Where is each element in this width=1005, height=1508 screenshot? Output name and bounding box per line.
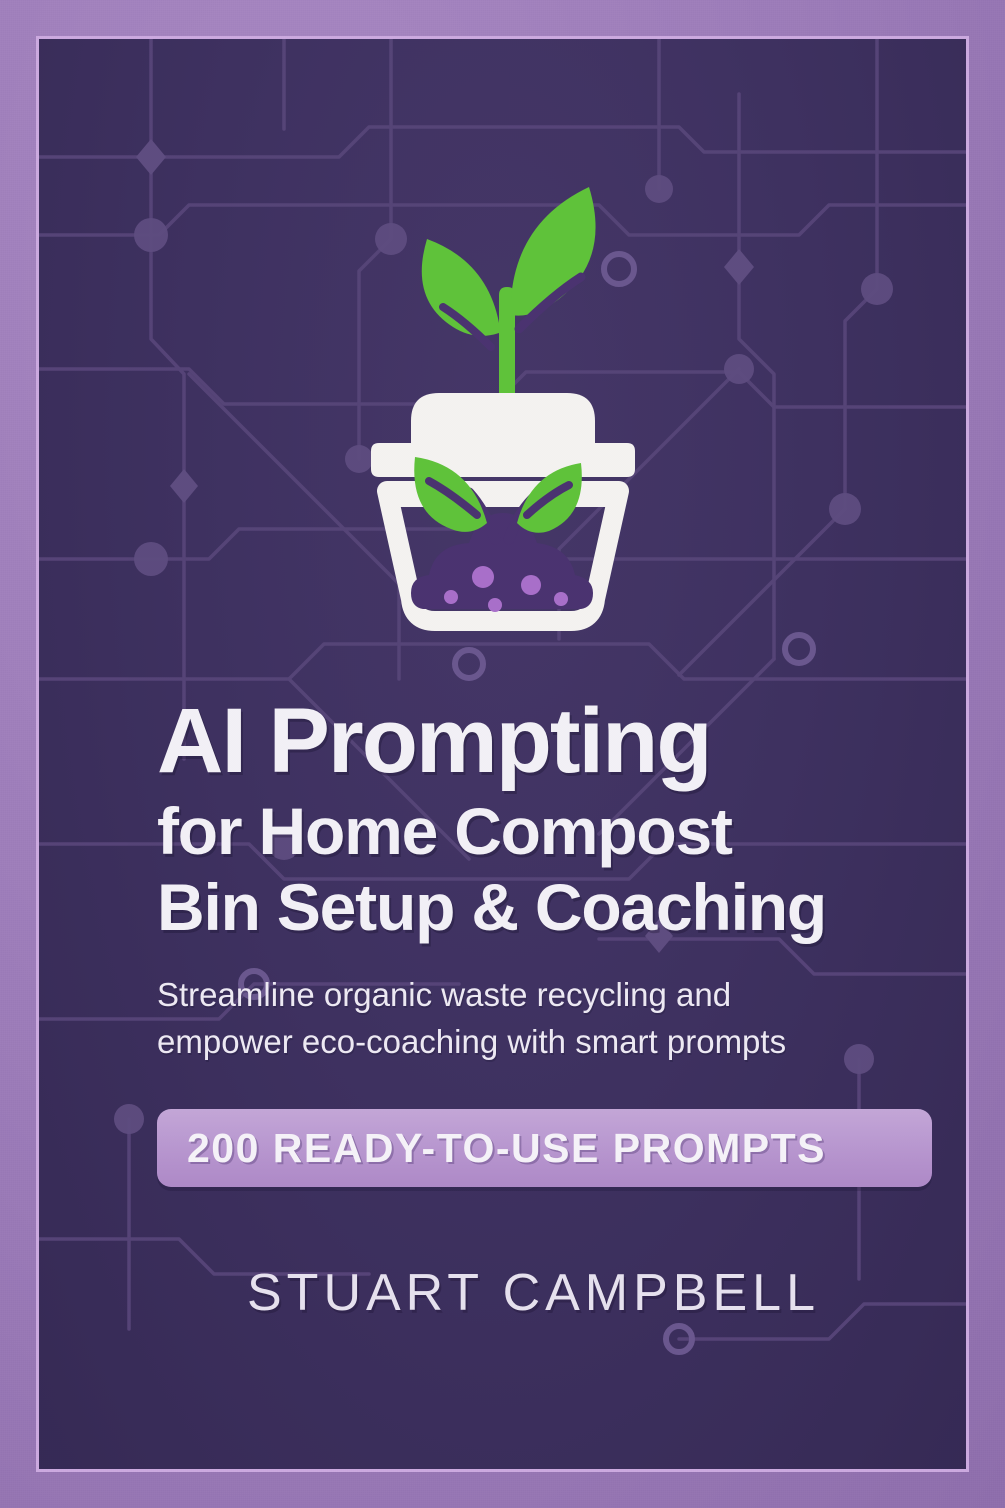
book-cover: AI Prompting for Home Compost Bin Setup …	[0, 0, 1005, 1508]
author-name: STUART CAMPBELL	[157, 1263, 866, 1323]
title-line-2: for Home Compost	[157, 793, 866, 869]
prompts-count-badge: 200 READY-TO-USE PROMPTS	[157, 1109, 932, 1187]
cover-text-block: AI Prompting for Home Compost Bin Setup …	[157, 689, 866, 1323]
title-line-3: Bin Setup & Coaching	[157, 869, 866, 945]
subtitle: Streamline organic waste recycling and e…	[157, 971, 866, 1065]
title-line-1: AI Prompting	[157, 689, 866, 793]
cover-inner-panel: AI Prompting for Home Compost Bin Setup …	[39, 39, 966, 1469]
subtitle-line-2: empower eco-coaching with smart prompts	[157, 1018, 866, 1065]
subtitle-line-1: Streamline organic waste recycling and	[157, 971, 866, 1018]
top-sprout-icon	[421, 187, 595, 397]
badge-label: 200 READY-TO-USE PROMPTS	[157, 1125, 826, 1172]
compost-bin-illustration	[323, 147, 683, 647]
